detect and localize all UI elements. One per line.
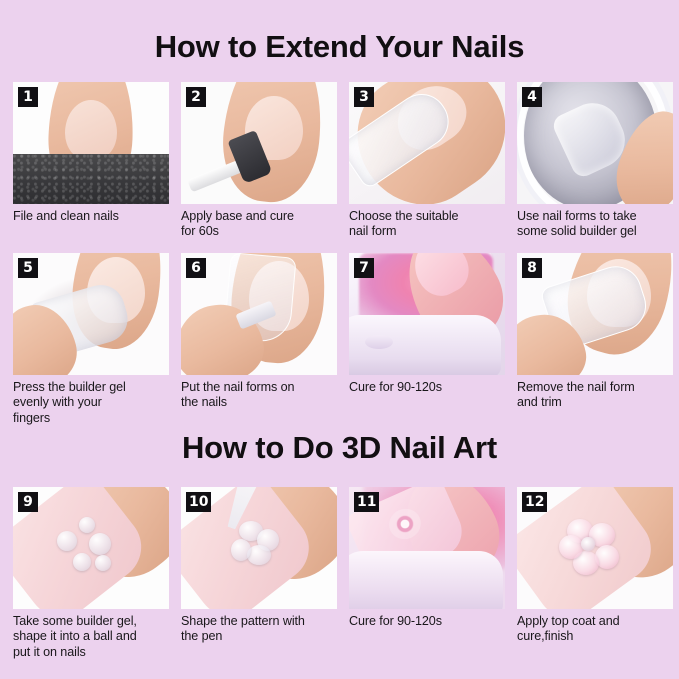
step-cell-12: 12 Apply top coat and cure,finish — [517, 487, 673, 660]
step-caption-2: Apply base and cure for 60s — [181, 209, 337, 240]
step-photo-8: 8 — [517, 253, 673, 375]
step-cell-5: 5 Press the builder gel evenly with your… — [13, 253, 169, 426]
step-photo-9: 9 — [13, 487, 169, 609]
step-badge-5: 5 — [18, 258, 38, 278]
step-badge-4: 4 — [522, 87, 542, 107]
step-row-3: 9 Take some builder gel, shape it into a… — [13, 487, 667, 660]
infographic-page: How to Extend Your Nails 1 File and clea… — [0, 0, 679, 679]
step-caption-5: Press the builder gel evenly with your f… — [13, 380, 169, 426]
step-badge-7: 7 — [354, 258, 374, 278]
step-cell-3: 3 Choose the suitable nail form — [349, 82, 505, 240]
step-badge-10: 10 — [186, 492, 211, 512]
step-caption-11: Cure for 90-120s — [349, 614, 505, 629]
step-photo-7: 7 — [349, 253, 505, 375]
section-title-extend-nails: How to Extend Your Nails — [0, 31, 679, 62]
step-cell-7: 7 Cure for 90-120s — [349, 253, 505, 426]
step-photo-12: 12 — [517, 487, 673, 609]
step-photo-1: 1 — [13, 82, 169, 204]
step-photo-10: 10 — [181, 487, 337, 609]
step-caption-9: Take some builder gel, shape it into a b… — [13, 614, 169, 660]
step-caption-6: Put the nail forms on the nails — [181, 380, 337, 411]
step-photo-6: 6 — [181, 253, 337, 375]
step-badge-2: 2 — [186, 87, 206, 107]
step-caption-12: Apply top coat and cure,finish — [517, 614, 673, 645]
step-badge-11: 11 — [354, 492, 379, 512]
step-photo-5: 5 — [13, 253, 169, 375]
step-cell-4: 4 Use nail forms to take some solid buil… — [517, 82, 673, 240]
step-cell-2: 2 Apply base and cure for 60s — [181, 82, 337, 240]
step-caption-4: Use nail forms to take some solid builde… — [517, 209, 673, 240]
step-row-1: 1 File and clean nails 2 Apply base and … — [13, 82, 667, 240]
step-badge-12: 12 — [522, 492, 547, 512]
step-caption-1: File and clean nails — [13, 209, 169, 224]
step-cell-11: 11 Cure for 90-120s — [349, 487, 505, 660]
step-badge-6: 6 — [186, 258, 206, 278]
step-badge-3: 3 — [354, 87, 374, 107]
step-photo-2: 2 — [181, 82, 337, 204]
step-badge-8: 8 — [522, 258, 542, 278]
step-badge-9: 9 — [18, 492, 38, 512]
step-photo-4: 4 — [517, 82, 673, 204]
step-photo-11: 11 — [349, 487, 505, 609]
step-cell-10: 10 Shape the pattern with the pen — [181, 487, 337, 660]
step-badge-1: 1 — [18, 87, 38, 107]
step-caption-10: Shape the pattern with the pen — [181, 614, 337, 645]
step-cell-9: 9 Take some builder gel, shape it into a… — [13, 487, 169, 660]
step-caption-8: Remove the nail form and trim — [517, 380, 673, 411]
step-cell-1: 1 File and clean nails — [13, 82, 169, 240]
step-row-2: 5 Press the builder gel evenly with your… — [13, 253, 667, 426]
step-cell-8: 8 Remove the nail form and trim — [517, 253, 673, 426]
section-title-3d-nail-art: How to Do 3D Nail Art — [0, 432, 679, 463]
lamp-button — [365, 335, 393, 349]
step-caption-3: Choose the suitable nail form — [349, 209, 505, 240]
step-photo-3: 3 — [349, 82, 505, 204]
nail-file — [13, 154, 169, 204]
step-caption-7: Cure for 90-120s — [349, 380, 505, 395]
lamp-base — [349, 551, 503, 609]
step-cell-6: 6 Put the nail forms on the nails — [181, 253, 337, 426]
